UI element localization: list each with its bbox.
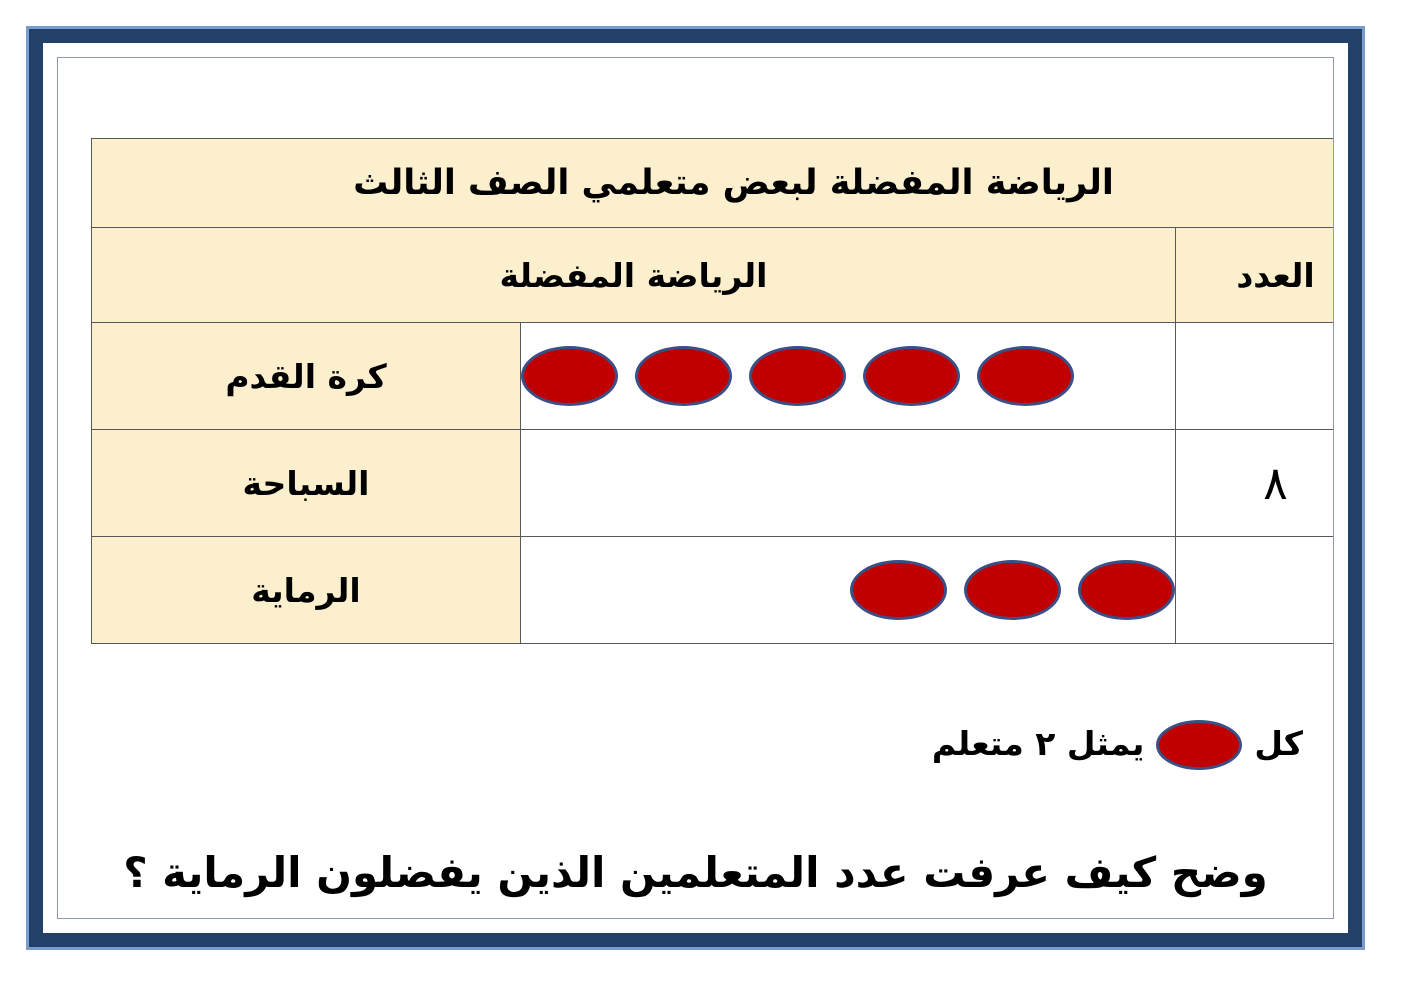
sport-label-swimming: السباحة [92,430,521,537]
worksheet-frame-inner: الرياضة المفضلة لبعض متعلمي الصف الثالث … [29,29,1362,947]
dots-row-football [521,346,1175,406]
count-value-swimming: ٨ [1176,430,1334,537]
column-header-count: العدد [1176,228,1334,323]
pictograph-dot [635,346,732,406]
table-title: الرياضة المفضلة لبعض متعلمي الصف الثالث [92,139,1335,228]
legend-text-before: كل [1254,724,1303,763]
sport-label-shooting: الرماية [92,537,521,644]
pictograph-table: الرياضة المفضلة لبعض متعلمي الصف الثالث … [91,138,1334,644]
pictograph-dot [749,346,846,406]
pictograph-dot [863,346,960,406]
table-title-row: الرياضة المفضلة لبعض متعلمي الصف الثالث [92,139,1335,228]
table-row: ٨ السباحة [92,430,1335,537]
pictograph-dot [521,346,618,406]
legend-text-after: يمثل ٢ متعلم [932,724,1144,763]
table-row: الرماية [92,537,1335,644]
sport-label-football: كرة القدم [92,323,521,430]
worksheet-frame: الرياضة المفضلة لبعض متعلمي الصف الثالث … [26,26,1365,950]
pictograph-dot [1078,560,1175,620]
count-value-football [1176,323,1334,430]
table-header-row: العدد الرياضة المفضلة [92,228,1335,323]
pictograph-dot [964,560,1061,620]
count-value-shooting [1176,537,1334,644]
column-header-sport: الرياضة المفضلة [92,228,1176,323]
legend-dot-icon [1156,720,1242,770]
legend: كل يمثل ٢ متعلم [932,718,1303,768]
pictograph-dot [977,346,1074,406]
question-text: وضح كيف عرفت عدد المتعلمين الذين يفضلون … [88,848,1303,897]
dots-cell-swimming [521,430,1176,537]
worksheet-body: الرياضة المفضلة لبعض متعلمي الصف الثالث … [57,57,1334,919]
dots-cell-football [521,323,1176,430]
dots-cell-shooting [521,537,1176,644]
table-row: كرة القدم [92,323,1335,430]
dots-row-shooting [521,560,1175,620]
pictograph-dot [850,560,947,620]
